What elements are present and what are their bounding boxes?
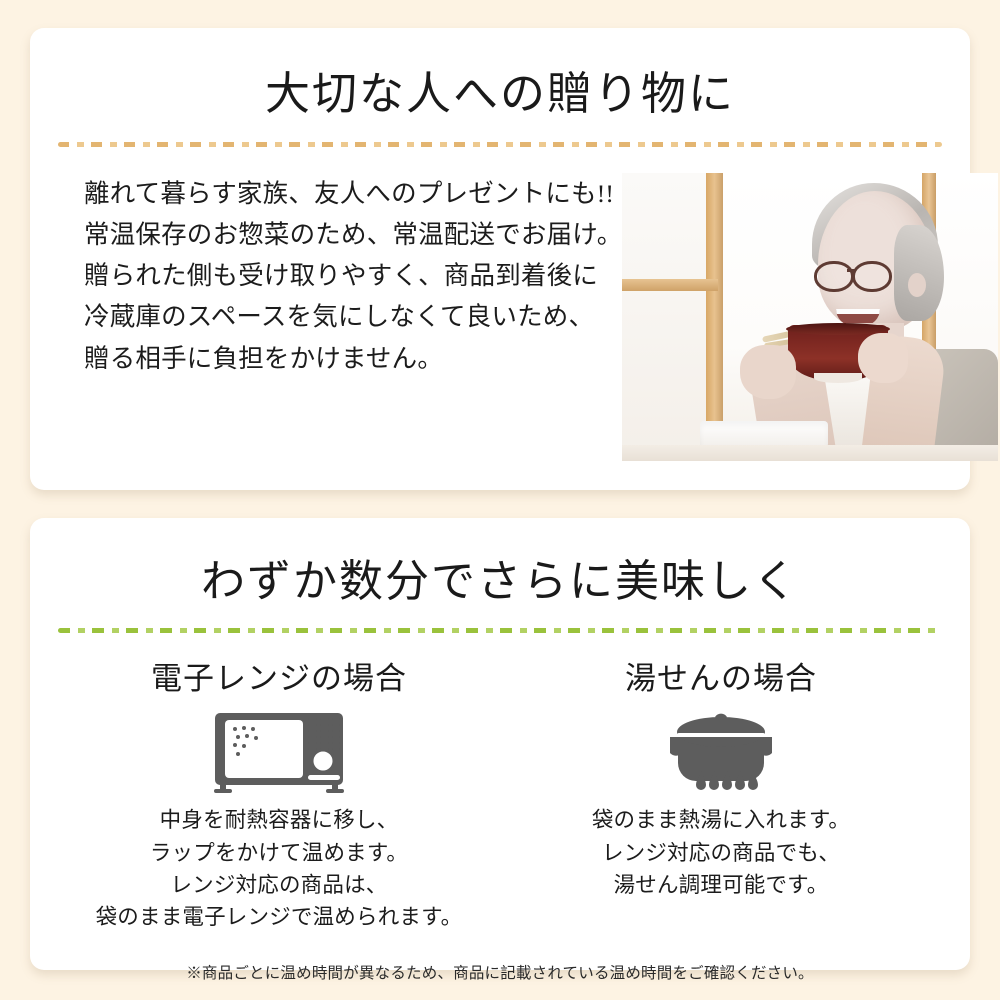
gift-line-5: 贈る相手に負担をかけません。 bbox=[84, 338, 622, 379]
microwave-line-3: レンジ対応の商品は、 bbox=[58, 869, 500, 901]
heating-title: わずか数分でさらに美味しく bbox=[58, 558, 942, 606]
orange-dashed-divider bbox=[58, 142, 942, 147]
method-microwave-description: 中身を耐熱容器に移し、 ラップをかけて温めます。 レンジ対応の商品は、 袋のまま… bbox=[58, 804, 500, 933]
method-hot-water: 湯せんの場合 bbox=[500, 653, 942, 933]
green-dashed-divider bbox=[58, 628, 942, 633]
hotwater-line-1: 袋のまま熱湯に入れます。 bbox=[500, 804, 942, 836]
elderly-woman-with-bowl-photo bbox=[622, 173, 998, 461]
gift-title: 大切な人への贈り物に bbox=[58, 70, 942, 120]
hotwater-line-2: レンジ対応の商品でも、 bbox=[500, 837, 942, 869]
gift-line-2: 常温保存のお惣菜のため、常温配送でお届け。 bbox=[84, 214, 622, 255]
microwave-line-4: 袋のまま電子レンジで温められます。 bbox=[58, 901, 500, 933]
gift-line-3: 贈られた側も受け取りやすく、商品到着後に bbox=[84, 255, 622, 296]
heating-card: わずか数分でさらに美味しく 電子レンジの場合 bbox=[30, 518, 970, 970]
method-microwave-heading: 電子レンジの場合 bbox=[58, 653, 500, 698]
method-hot-water-description: 袋のまま熱湯に入れます。 レンジ対応の商品でも、 湯せん調理可能です。 bbox=[500, 804, 942, 901]
method-hot-water-heading: 湯せんの場合 bbox=[500, 653, 942, 698]
pot-icon bbox=[500, 706, 942, 802]
heating-footnote: ※商品ごとに温め時間が異なるため、商品に記載されている温め時間をご確認ください。 bbox=[58, 961, 942, 983]
microwave-line-1: 中身を耐熱容器に移し、 bbox=[58, 804, 500, 836]
method-microwave: 電子レンジの場合 bbox=[58, 653, 500, 933]
gift-body: 離れて暮らす家族、友人へのプレゼントにも!! 常温保存のお惣菜のため、常温配送で… bbox=[58, 173, 942, 461]
microwave-icon bbox=[58, 706, 500, 802]
microwave-line-2: ラップをかけて温めます。 bbox=[58, 837, 500, 869]
gift-card: 大切な人への贈り物に 離れて暮らす家族、友人へのプレゼントにも!! 常温保存のお… bbox=[30, 28, 970, 490]
gift-line-4: 冷蔵庫のスペースを気にしなくて良いため、 bbox=[84, 296, 622, 337]
heating-methods: 電子レンジの場合 bbox=[58, 653, 942, 933]
hotwater-line-3: 湯せん調理可能です。 bbox=[500, 869, 942, 901]
gift-line-1: 離れて暮らす家族、友人へのプレゼントにも!! bbox=[84, 173, 622, 214]
page-root: 大切な人への贈り物に 離れて暮らす家族、友人へのプレゼントにも!! 常温保存のお… bbox=[0, 0, 1000, 1000]
gift-description: 離れて暮らす家族、友人へのプレゼントにも!! 常温保存のお惣菜のため、常温配送で… bbox=[58, 173, 622, 379]
